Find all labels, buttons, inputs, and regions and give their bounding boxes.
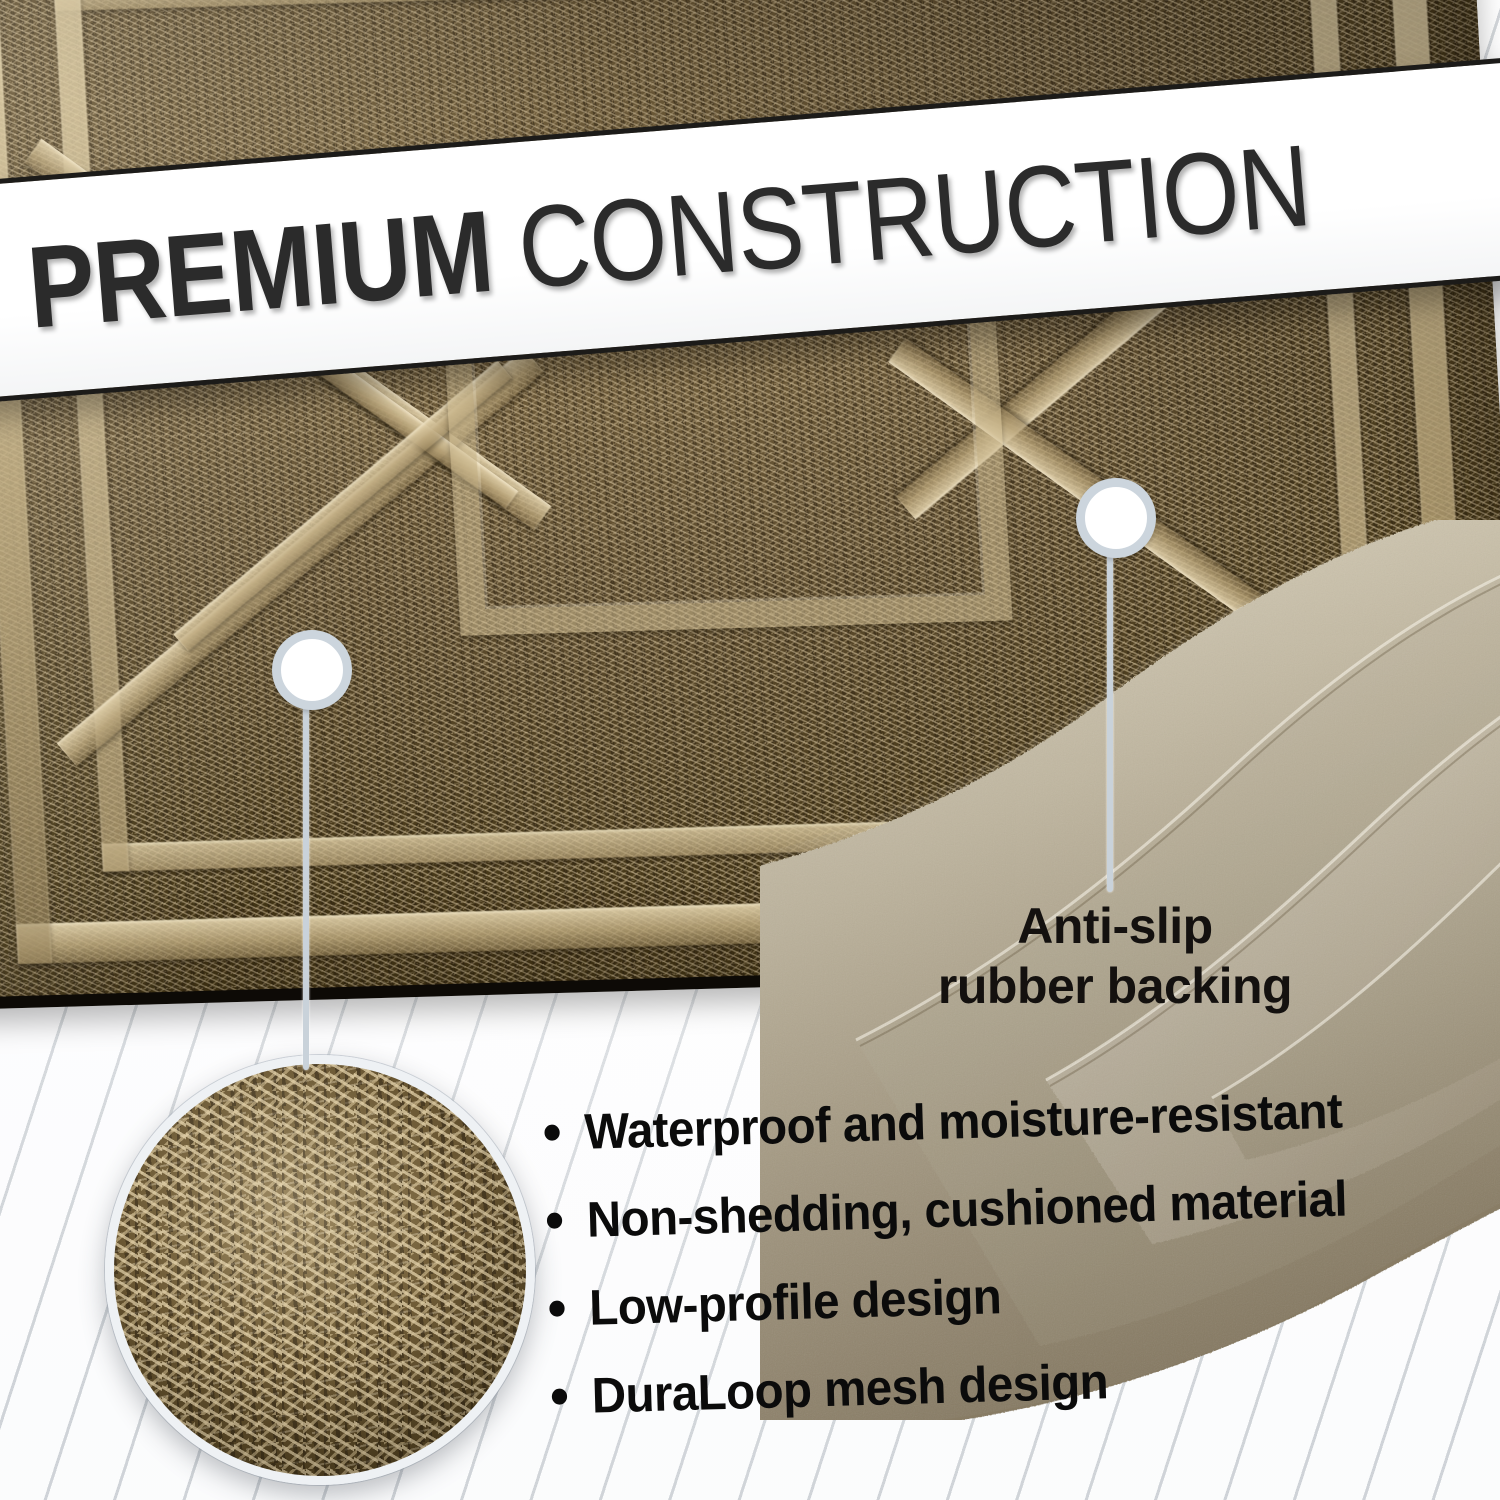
anti-slip-backing-label: Anti-slip rubber backing (860, 896, 1370, 1016)
anti-slip-label-line2: rubber backing (860, 956, 1370, 1016)
mat-pattern-band (102, 808, 1384, 872)
banner-headline-light: CONSTRUCTION (487, 120, 1315, 315)
list-item: Low-profile design (545, 1259, 1449, 1334)
callout-dot-mesh (272, 630, 352, 710)
banner-headline-bold: PREMIUM (23, 186, 497, 353)
loupe-shading (114, 1064, 526, 1476)
callout-dot-rubber-backing (1076, 478, 1156, 558)
list-item: Non-shedding, cushioned material (542, 1171, 1446, 1246)
feature-list-items: Waterproof and moisture-resistant Non-sh… (540, 1081, 1498, 1421)
mat-pattern-band (54, 0, 1335, 11)
callout-line-rubber-backing (1107, 548, 1113, 892)
anti-slip-label-line1: Anti-slip (860, 896, 1370, 956)
feature-list: Waterproof and moisture-resistant Non-sh… (540, 1081, 1498, 1421)
callout-line-mesh (303, 700, 309, 1070)
product-feature-image: Anti-slip rubber backing PREMIUM CONSTRU… (0, 0, 1500, 1500)
mesh-closeup-loupe (105, 1055, 535, 1485)
